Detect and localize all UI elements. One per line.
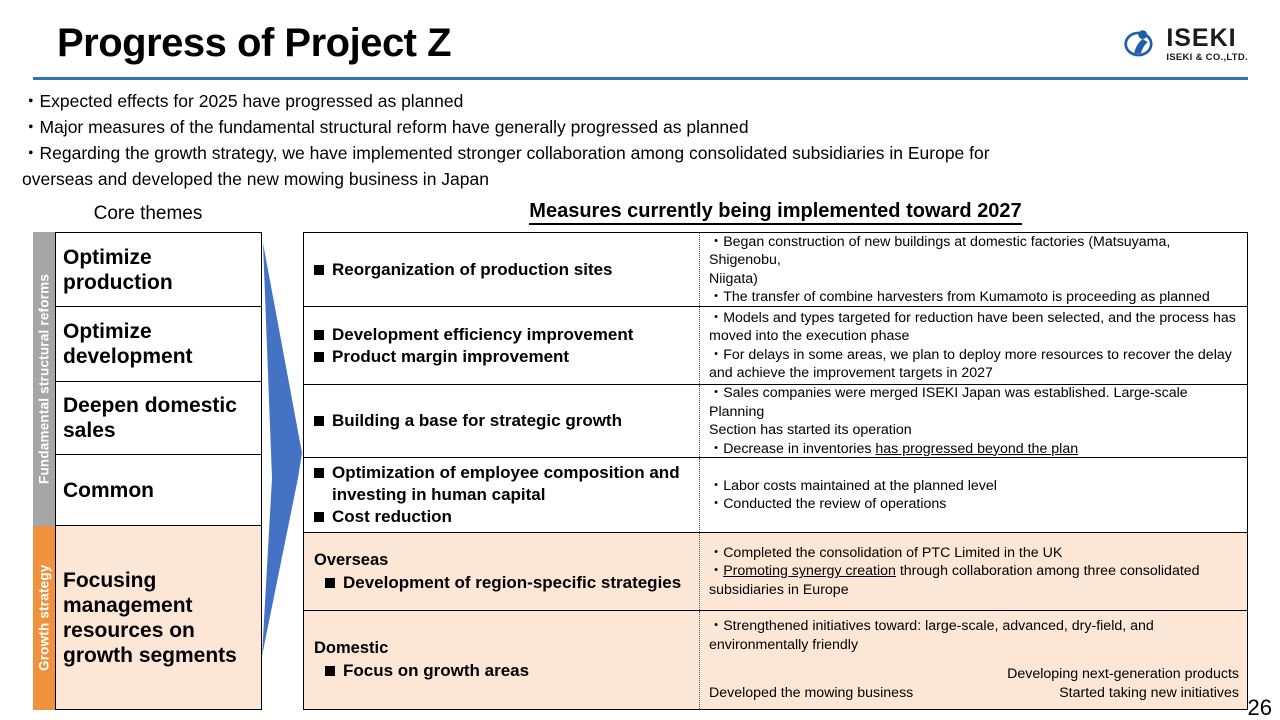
row5-measures: Overseas Development of region-specific … bbox=[304, 533, 700, 610]
summary-bullet-1: ・Expected effects for 2025 have progress… bbox=[22, 88, 1252, 114]
measure-label: Reorganization of production sites bbox=[332, 259, 613, 281]
square-bullet-icon bbox=[325, 578, 335, 588]
detail-line-with-underline: ・Decrease in inventories has progressed … bbox=[709, 440, 1239, 459]
detail-plain: ・Decrease in inventories bbox=[709, 441, 875, 457]
iseki-logo: ISEKI ISEKI & CO.,LTD. bbox=[1124, 26, 1248, 63]
square-bullet-icon bbox=[314, 265, 324, 275]
row6-measures: Domestic Focus on growth areas bbox=[304, 611, 700, 709]
measure-item[interactable]: Cost reduction bbox=[314, 506, 693, 528]
page-number: 26 bbox=[1248, 696, 1272, 720]
row4-measures: Optimization of employee composition and… bbox=[304, 458, 700, 532]
row4-details: ・Labor costs maintained at the planned l… bbox=[700, 458, 1247, 532]
progress-arrow-icon bbox=[258, 228, 308, 670]
page-title: Progress of Project Z bbox=[57, 19, 451, 67]
slide-root: Progress of Project Z ISEKI ISEKI & CO.,… bbox=[0, 0, 1280, 720]
summary-bullets: ・Expected effects for 2025 have progress… bbox=[22, 88, 1252, 192]
detail-underlined: Developing next-generation products bbox=[1007, 666, 1239, 682]
detail-line: ・Strengthened initiatives toward: large-… bbox=[709, 617, 1239, 654]
measure-item[interactable]: Building a base for strategic growth bbox=[314, 410, 693, 432]
row3-details: ・Sales companies were merged ISEKI Japan… bbox=[700, 385, 1247, 457]
measure-item[interactable]: Optimization of employee composition and… bbox=[314, 462, 693, 506]
measure-item[interactable]: Development of region-specific strategie… bbox=[314, 572, 693, 594]
detail-line: ・For delays in some areas, we plan to de… bbox=[709, 346, 1239, 383]
row2-measures: Development efficiency improvement Produ… bbox=[304, 307, 700, 384]
detail-line: ・Began construction of new buildings at … bbox=[709, 233, 1239, 289]
table-row: Domestic Focus on growth areas ・Strength… bbox=[304, 611, 1247, 709]
detail-line: ・Labor costs maintained at the planned l… bbox=[709, 477, 1239, 496]
measures-table: Reorganization of production sites ・Bega… bbox=[303, 232, 1248, 710]
theme-cell-deepen-domestic-sales[interactable]: Deepen domestic sales bbox=[55, 382, 262, 455]
table-row: Reorganization of production sites ・Bega… bbox=[304, 233, 1247, 307]
detail-line: ・Completed the consolidation of PTC Limi… bbox=[709, 544, 1239, 563]
detail-line-with-underline: ・Promoting synergy creation through coll… bbox=[709, 562, 1239, 599]
square-bullet-icon bbox=[314, 512, 324, 522]
theme-cell-optimize-production[interactable]: Optimize production bbox=[55, 232, 262, 307]
detail-plain: Developed the mowing business bbox=[709, 684, 913, 703]
measure-label: Development of region-specific strategie… bbox=[343, 572, 681, 594]
measure-item[interactable]: Product margin improvement bbox=[314, 346, 693, 368]
measure-label: Building a base for strategic growth bbox=[332, 410, 622, 432]
row1-measures: Reorganization of production sites bbox=[304, 233, 700, 306]
detail-bottom-row: Developed the mowing business Developing… bbox=[709, 665, 1239, 703]
row3-measures: Building a base for strategic growth bbox=[304, 385, 700, 457]
measures-caption: Measures currently being implemented tow… bbox=[303, 198, 1248, 224]
detail-line: ・Conducted the review of operations bbox=[709, 495, 1239, 514]
square-bullet-icon bbox=[314, 468, 324, 478]
subhead-domestic: Domestic bbox=[314, 638, 693, 659]
theme-cell-optimize-development[interactable]: Optimize development bbox=[55, 307, 262, 382]
summary-bullet-2: ・Major measures of the fundamental struc… bbox=[22, 114, 1252, 140]
row5-details: ・Completed the consolidation of PTC Limi… bbox=[700, 533, 1247, 610]
measures-caption-text: Measures currently being implemented tow… bbox=[529, 200, 1021, 225]
table-row: Overseas Development of region-specific … bbox=[304, 533, 1247, 611]
reform-theme-cells: Optimize production Optimize development… bbox=[55, 232, 262, 526]
row1-details: ・Began construction of new buildings at … bbox=[700, 233, 1247, 306]
detail-underlined: Started taking new initiatives bbox=[1059, 685, 1239, 701]
measure-label: Focus on growth areas bbox=[343, 660, 529, 682]
detail-spacer bbox=[709, 654, 1239, 665]
measure-label: Development efficiency improvement bbox=[332, 324, 633, 346]
square-bullet-icon bbox=[314, 330, 324, 340]
measure-item[interactable]: Development efficiency improvement bbox=[314, 324, 693, 346]
header-divider bbox=[33, 77, 1248, 80]
square-bullet-icon bbox=[314, 352, 324, 362]
measure-item[interactable]: Reorganization of production sites bbox=[314, 259, 693, 281]
measure-label: Optimization of employee composition and… bbox=[332, 462, 693, 506]
growth-theme-cells: Focusing management resources on growth … bbox=[55, 526, 262, 710]
iseki-wordmark: ISEKI ISEKI & CO.,LTD. bbox=[1166, 26, 1248, 63]
row6-details: ・Strengthened initiatives toward: large-… bbox=[700, 611, 1247, 709]
summary-bullet-3: ・Regarding the growth strategy, we have … bbox=[22, 140, 1252, 192]
measure-item[interactable]: Focus on growth areas bbox=[314, 660, 693, 682]
logo-main-text: ISEKI bbox=[1166, 26, 1248, 51]
band-fundamental-structural-reforms: Fundamental structural reforms bbox=[33, 232, 55, 526]
theme-cell-common[interactable]: Common bbox=[55, 455, 262, 526]
table-row: Development efficiency improvement Produ… bbox=[304, 307, 1247, 385]
core-themes-caption: Core themes bbox=[33, 202, 263, 226]
table-row: Building a base for strategic growth ・Sa… bbox=[304, 385, 1247, 458]
detail-line: ・The transfer of combine harvesters from… bbox=[709, 288, 1239, 307]
table-row: Optimization of employee composition and… bbox=[304, 458, 1247, 533]
logo-sub-text: ISEKI & CO.,LTD. bbox=[1166, 53, 1248, 63]
subhead-overseas: Overseas bbox=[314, 550, 693, 571]
detail-line: ・Sales companies were merged ISEKI Japan… bbox=[709, 384, 1239, 440]
theme-cell-focusing-management-resources[interactable]: Focusing management resources on growth … bbox=[55, 526, 262, 710]
measure-label: Product margin improvement bbox=[332, 346, 569, 368]
growth-group: Growth strategy Focusing management reso… bbox=[33, 526, 262, 710]
detail-underlined: Promoting synergy creation bbox=[723, 563, 896, 579]
row2-details: ・Models and types targeted for reduction… bbox=[700, 307, 1247, 384]
measure-label: Cost reduction bbox=[332, 506, 452, 528]
iseki-mark-icon bbox=[1124, 27, 1158, 61]
detail-underlined: has progressed beyond the plan bbox=[875, 441, 1078, 457]
detail-underlined-stack: Developing next-generation products Star… bbox=[1007, 665, 1239, 703]
band-growth-strategy: Growth strategy bbox=[33, 526, 55, 710]
reforms-group: Fundamental structural reforms Optimize … bbox=[33, 232, 262, 526]
square-bullet-icon bbox=[325, 666, 335, 676]
square-bullet-icon bbox=[314, 416, 324, 426]
detail-line: ・Models and types targeted for reduction… bbox=[709, 309, 1239, 346]
detail-bullet-mark: ・ bbox=[709, 563, 723, 579]
core-themes-table: Fundamental structural reforms Optimize … bbox=[33, 232, 262, 710]
